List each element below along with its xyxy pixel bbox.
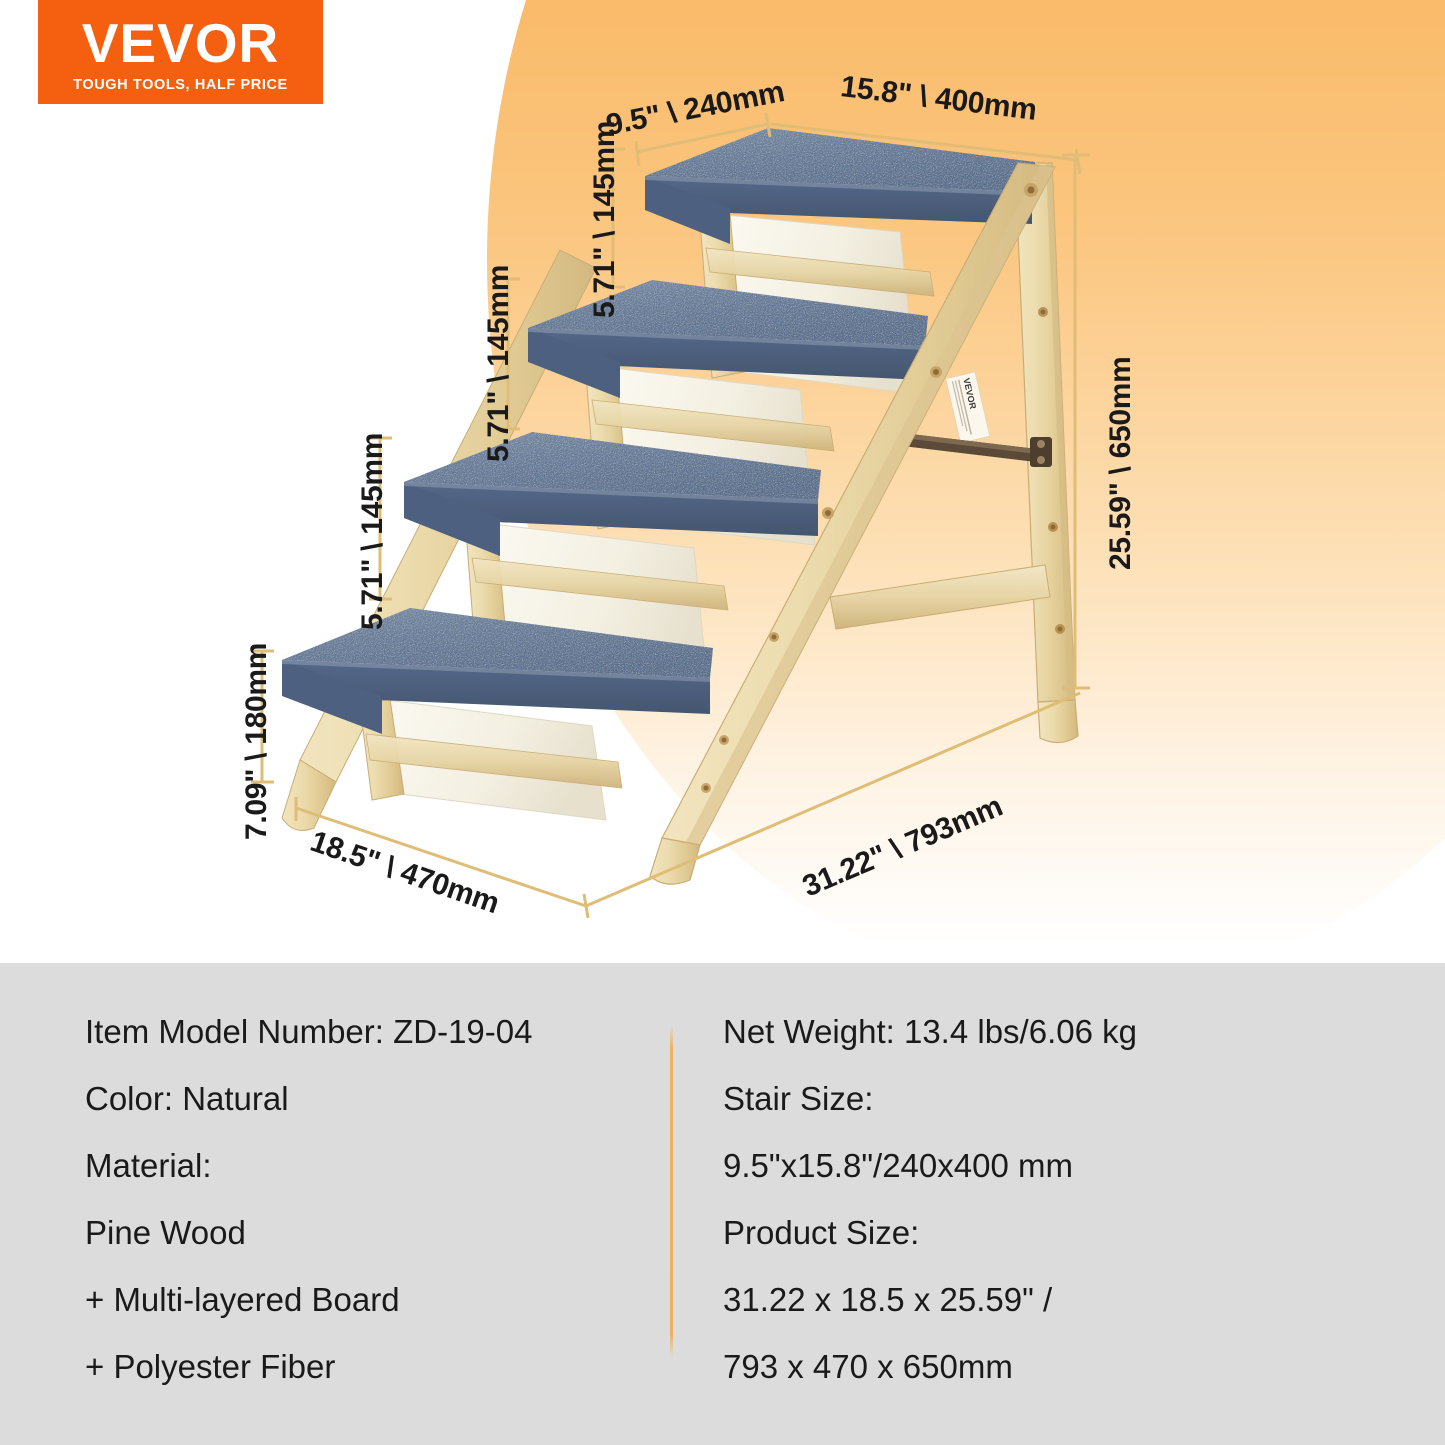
spec-item-model-number: Item Model Number: ZD-19-04 xyxy=(85,1015,660,1048)
logo-tagline: TOUGH TOOLS, HALF PRICE xyxy=(73,77,288,93)
spec-column-left: Item Model Number: ZD-19-04 Color: Natur… xyxy=(0,963,660,1445)
spec-product-size-heading: Product Size: xyxy=(723,1216,1445,1249)
product-spec-page: VEVOR TOUGH TOOLS, HALF PRICE xyxy=(0,0,1445,1445)
spec-product-size-imperial: 31.22 x 18.5 x 25.59" / xyxy=(723,1283,1445,1316)
dim-label-rise-1: 5.71" \ 145mm xyxy=(588,121,622,318)
product-illustration: VEVOR xyxy=(0,0,1445,963)
spec-material-2: + Multi-layered Board xyxy=(85,1283,660,1316)
spec-color: Color: Natural xyxy=(85,1082,660,1115)
spec-material-3: + Polyester Fiber xyxy=(85,1350,660,1383)
spec-column-divider xyxy=(670,1025,673,1357)
vevor-logo: VEVOR TOUGH TOOLS, HALF PRICE xyxy=(38,0,323,104)
spec-material-1: Pine Wood xyxy=(85,1216,660,1249)
dim-label-rise-3: 5.71" \ 145mm xyxy=(356,433,390,630)
specification-panel: Item Model Number: ZD-19-04 Color: Natur… xyxy=(0,963,1445,1445)
rear-cross-rail xyxy=(830,565,1050,629)
dim-label-bottom-rise: 7.09" \ 180mm xyxy=(240,643,274,840)
vevor-sticker: VEVOR xyxy=(946,372,990,443)
logo-wordmark: VEVOR xyxy=(82,16,280,71)
dim-label-rise-2: 5.71" \ 145mm xyxy=(482,265,516,462)
spec-column-right: Net Weight: 13.4 lbs/6.06 kg Stair Size:… xyxy=(660,963,1445,1445)
spec-material-heading: Material: xyxy=(85,1149,660,1182)
spec-stair-size-heading: Stair Size: xyxy=(723,1082,1445,1115)
spec-net-weight: Net Weight: 13.4 lbs/6.06 kg xyxy=(723,1015,1445,1048)
spec-stair-size-value: 9.5"x15.8"/240x400 mm xyxy=(723,1149,1445,1182)
step-1 xyxy=(282,608,713,820)
dim-label-total-height: 25.59" \ 650mm xyxy=(1104,356,1138,570)
spec-product-size-metric: 793 x 470 x 650mm xyxy=(723,1350,1445,1383)
